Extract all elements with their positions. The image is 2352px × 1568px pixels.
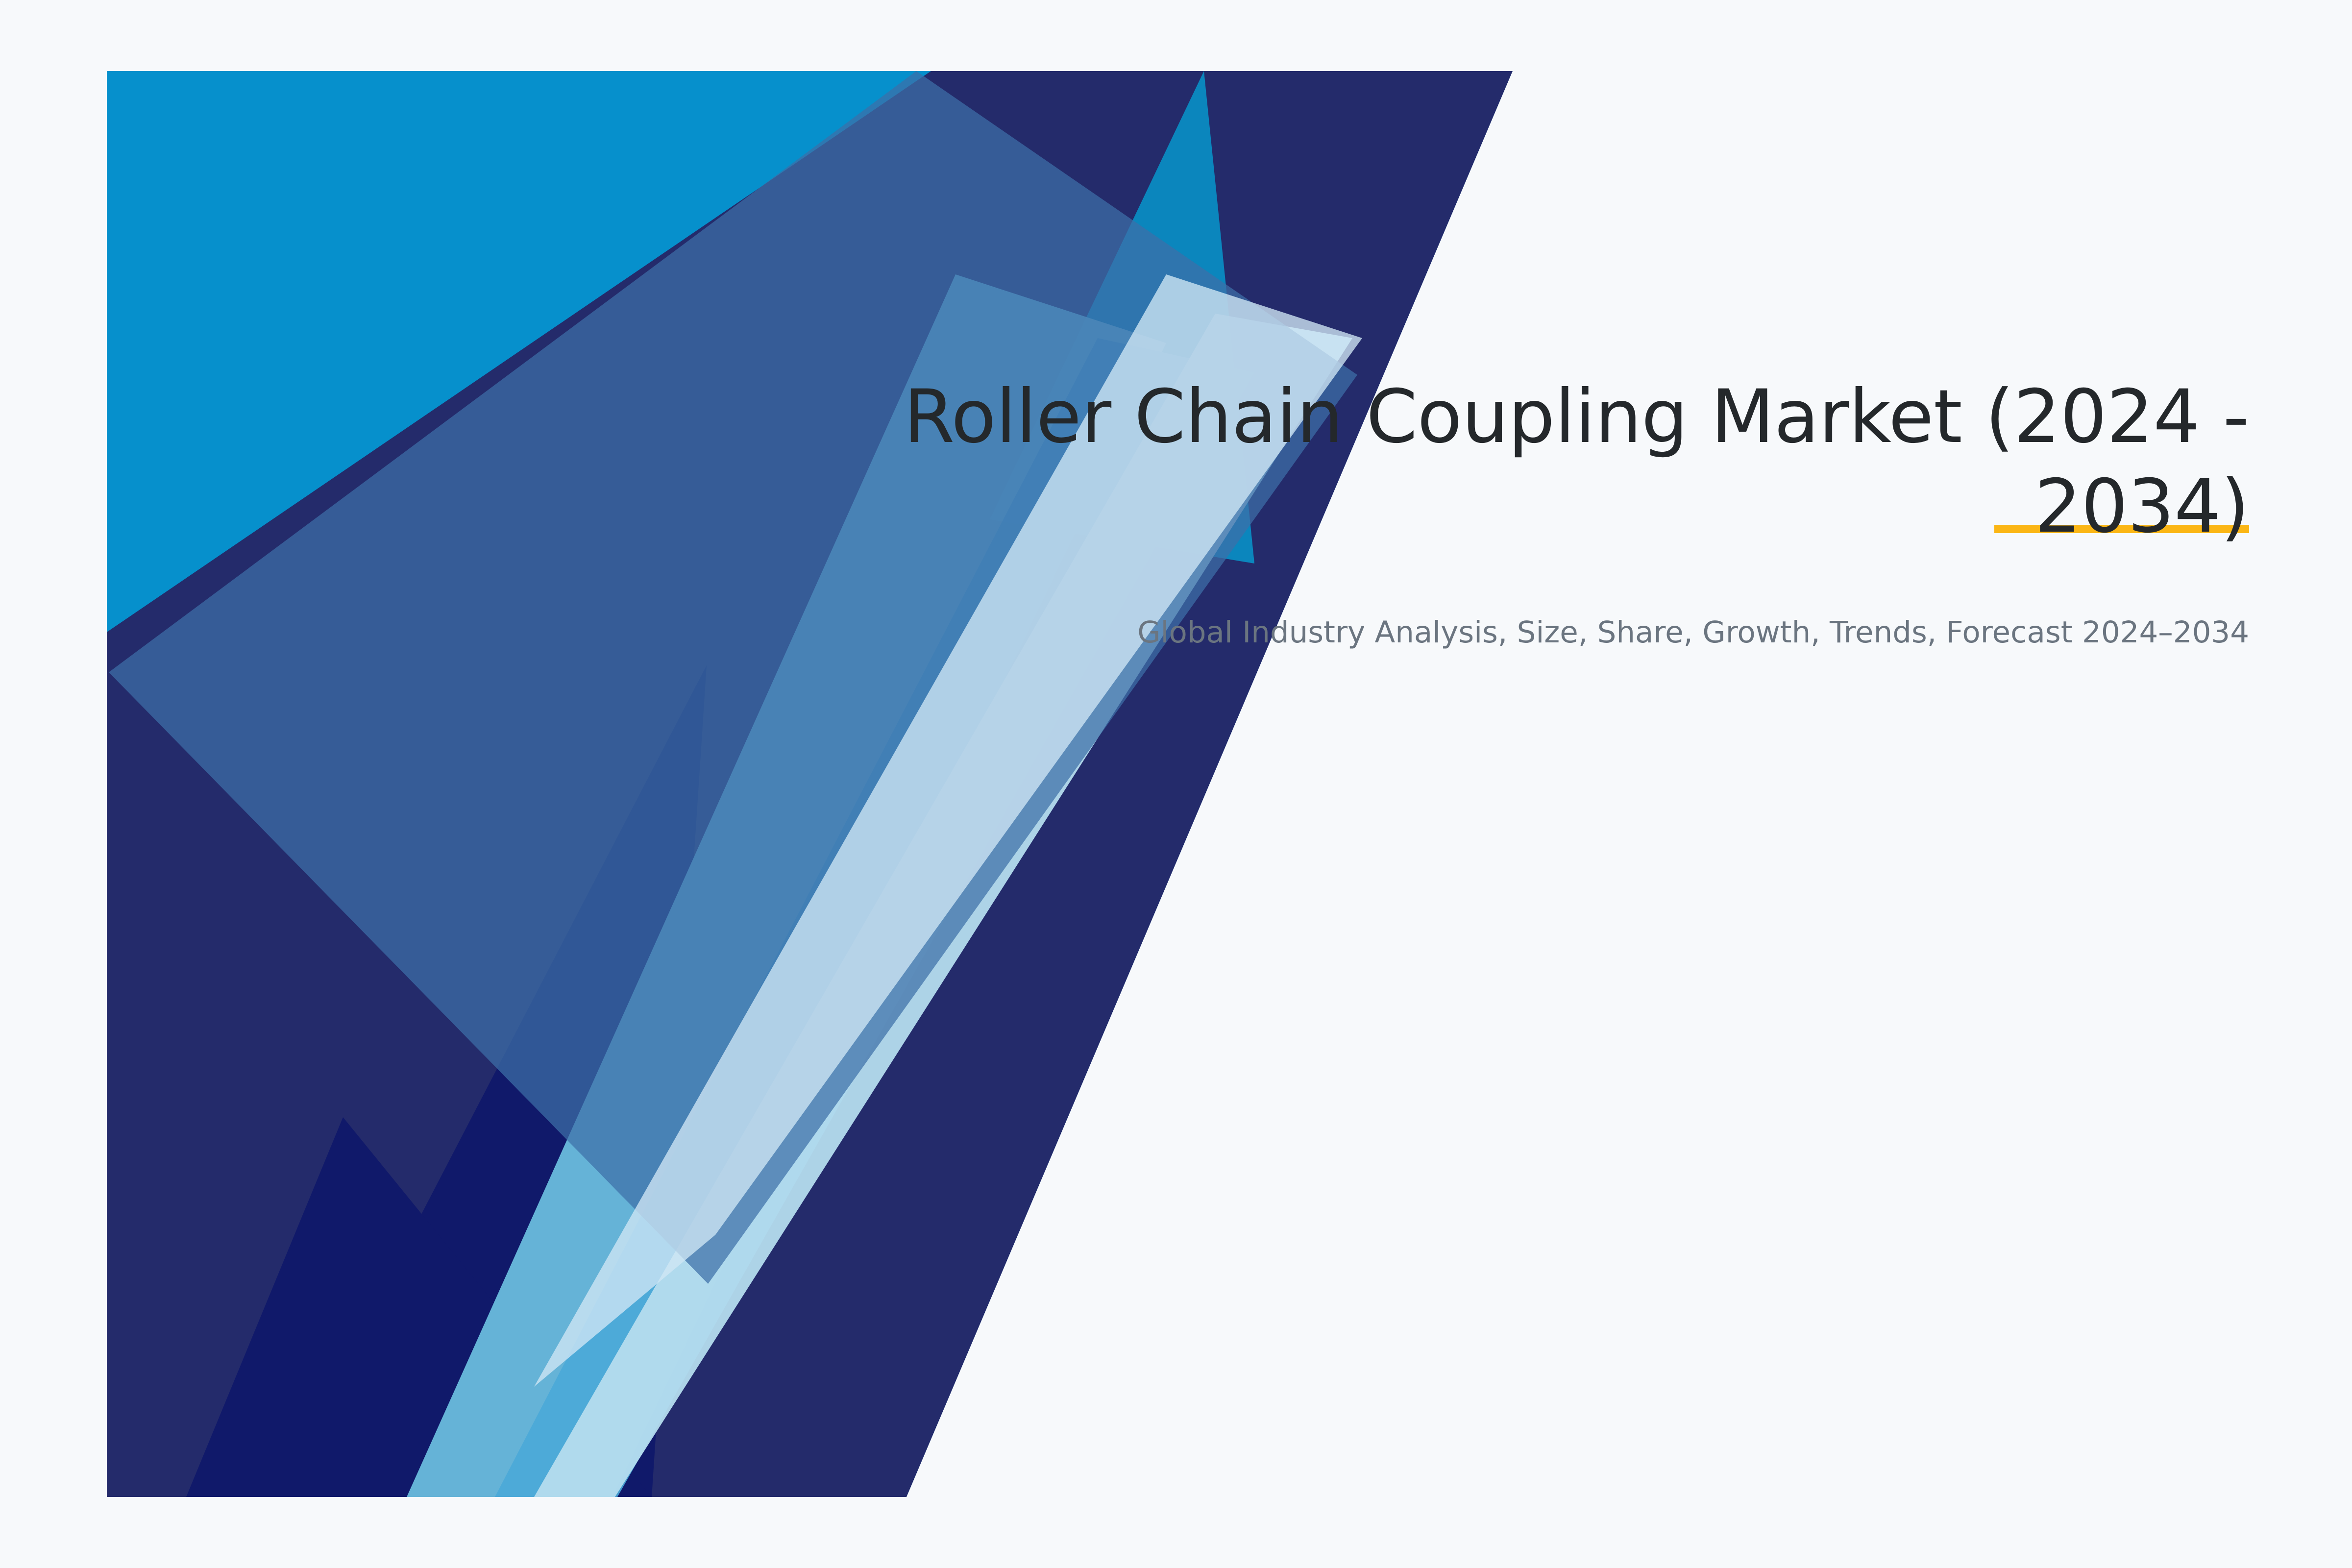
hero-text-block: Roller Chain Coupling Market (2024 - 203… bbox=[833, 372, 2249, 652]
page-title: Roller Chain Coupling Market (2024 - 203… bbox=[833, 372, 2249, 552]
page-subtitle: Global Industry Analysis, Size, Share, G… bbox=[833, 613, 2249, 652]
title-wrap: Roller Chain Coupling Market (2024 - 203… bbox=[833, 372, 2249, 552]
cover-slide: Roller Chain Coupling Market (2024 - 203… bbox=[0, 0, 2352, 1568]
abstract-geometric-banner bbox=[0, 0, 2352, 1568]
